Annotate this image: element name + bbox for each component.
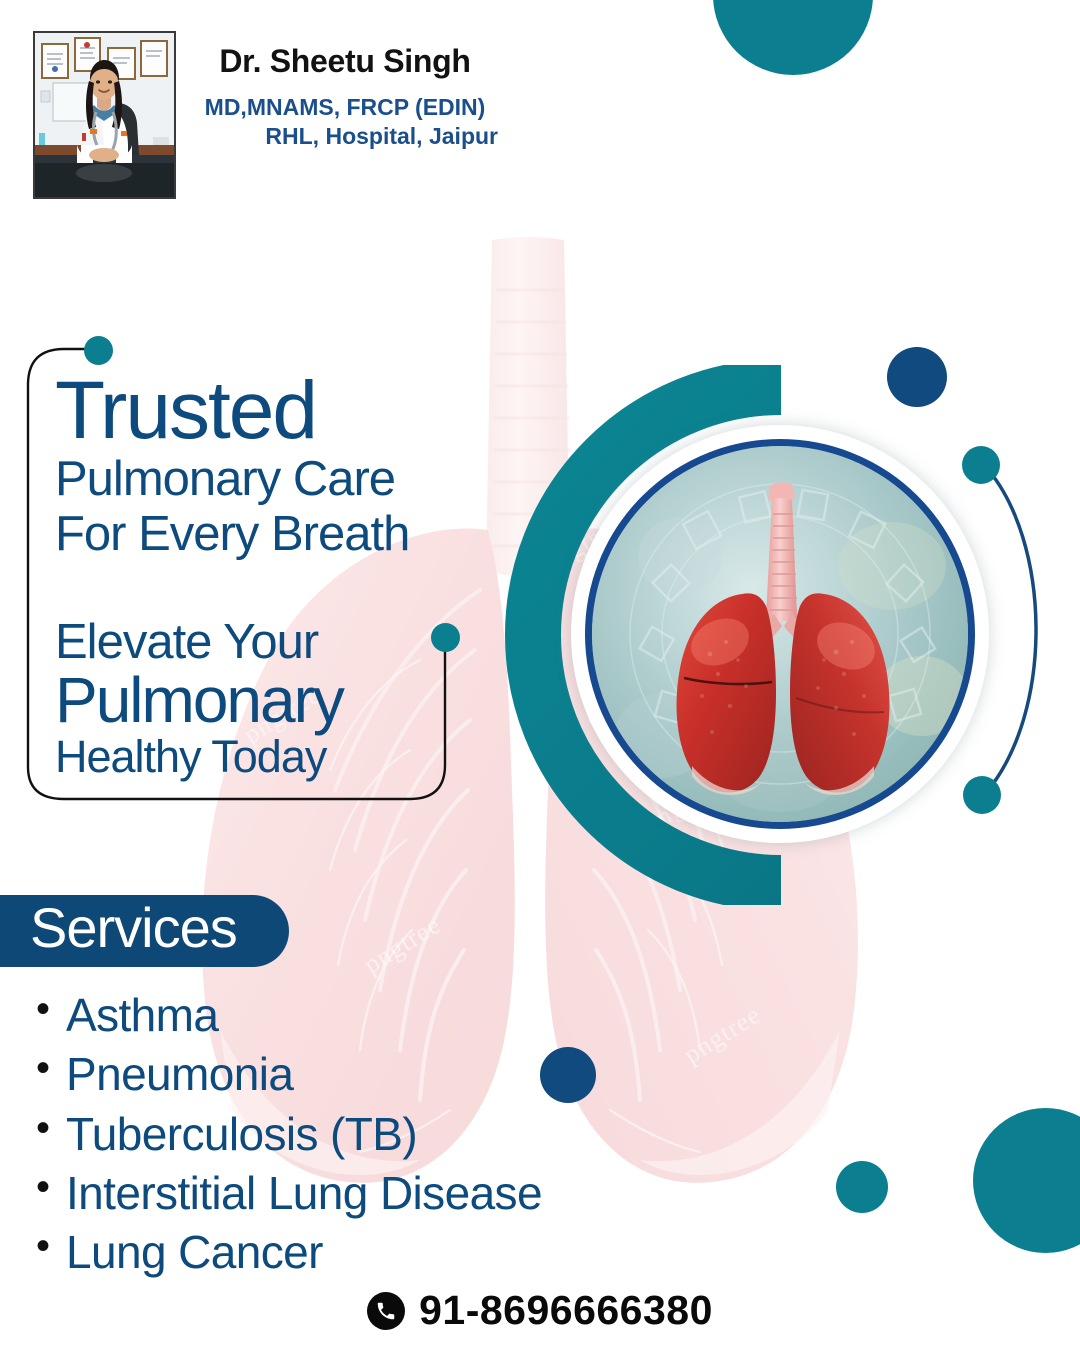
footer-phone[interactable]: 91-8696666380 — [0, 1290, 1080, 1331]
headline-for-every-breath: For Every Breath — [55, 509, 475, 560]
headline-pulmonary-care: Pulmonary Care — [55, 454, 475, 505]
watermark-text: pngtree — [359, 910, 447, 980]
doctor-credentials: MD,MNAMS, FRCP (EDIN) RHL, Hospital, Jai… — [180, 93, 510, 151]
service-item: Lung Cancer — [34, 1223, 734, 1282]
headline-trusted: Trusted — [55, 372, 475, 450]
phone-icon — [367, 1292, 405, 1330]
header-text-block: Dr. Sheetu Singh MD,MNAMS, FRCP (EDIN) R… — [180, 44, 510, 151]
headline-block-secondary: Elevate Your Pulmonary Healthy Today — [55, 617, 475, 782]
credentials-line-2: RHL, Hospital, Jaipur — [180, 122, 510, 151]
services-list: Asthma Pneumonia Tuberculosis (TB) Inter… — [34, 986, 734, 1283]
phone-number: 91-8696666380 — [419, 1290, 713, 1331]
headline-elevate-your: Elevate Your — [55, 617, 475, 668]
decor-circle-teal-bottom-right — [973, 1108, 1080, 1253]
service-item: Tuberculosis (TB) — [34, 1105, 734, 1164]
service-item: Asthma — [34, 986, 734, 1045]
header: Dr. Sheetu Singh MD,MNAMS, FRCP (EDIN) R… — [0, 0, 1080, 215]
services-badge: Services — [0, 895, 289, 967]
doctor-photo — [33, 31, 176, 199]
medallion-photo-ring — [571, 425, 989, 843]
medallion-photo — [585, 439, 975, 829]
service-item: Interstitial Lung Disease — [34, 1164, 734, 1223]
credentials-line-1: MD,MNAMS, FRCP (EDIN) — [180, 93, 510, 122]
services-badge-label: Services — [30, 900, 237, 956]
frame-dot-top-left — [84, 336, 113, 365]
service-item: Pneumonia — [34, 1045, 734, 1104]
headline-healthy-today: Healthy Today — [55, 732, 475, 782]
poster-root: pngtree pngtree pngtree pngtree pngtree … — [0, 0, 1080, 1350]
decor-circle-teal-bottom-small — [836, 1161, 888, 1213]
doctor-name: Dr. Sheetu Singh — [180, 44, 510, 79]
lung-medallion — [495, 365, 995, 905]
headline-pulmonary: Pulmonary — [55, 668, 475, 732]
headline-block-primary: Trusted Pulmonary Care For Every Breath — [55, 372, 475, 560]
